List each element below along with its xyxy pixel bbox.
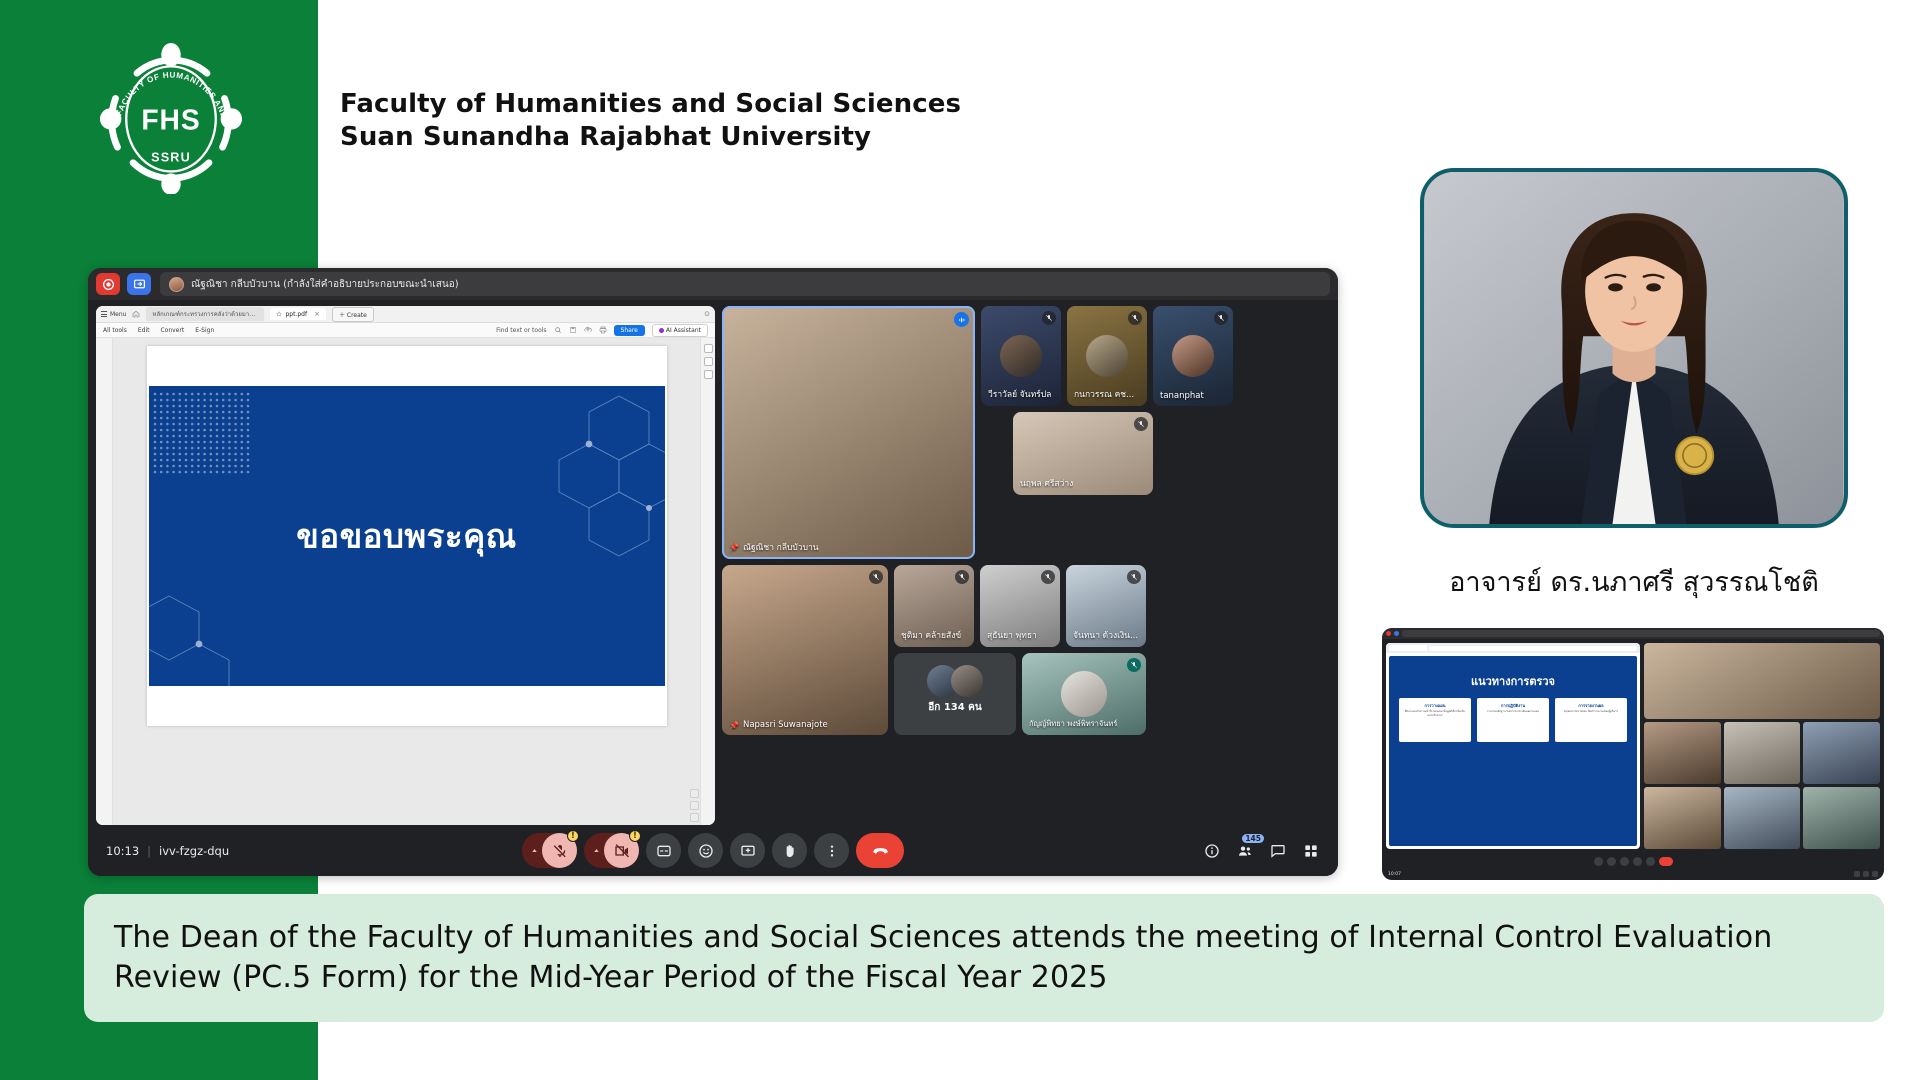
help-icon[interactable]: ⊙: [704, 310, 710, 318]
acrobat-zoom-rail[interactable]: [690, 789, 699, 822]
chevron-up-icon[interactable]: [526, 846, 542, 855]
secondary-tile: [1644, 722, 1721, 784]
secondary-slide-title: แนวทางการตรวจ: [1389, 672, 1637, 690]
people-button[interactable]: 145: [1234, 840, 1256, 862]
secondary-titlebar: [1382, 628, 1884, 639]
acrobat-right-rail[interactable]: [700, 338, 715, 825]
meet-control-bar: 10:13 | ivv-fzgz-dqu ! !: [88, 825, 1338, 876]
mic-icon: [1594, 857, 1603, 866]
slide-card: การวางแผน ศึกษาและทำความเข้าใจ ขอบเขต ข้…: [1399, 698, 1471, 742]
slide-heading: ขอขอบพระคุณ: [149, 510, 665, 563]
overflow-avatars: อีก 134 คน: [894, 653, 1016, 735]
poster-root: FACULTY OF HUMANITIES AND SOCIAL SCIENCE…: [0, 0, 1920, 1080]
close-icon[interactable]: ×: [314, 310, 320, 318]
presentation-slide: ขอขอบพระคุณ: [149, 386, 665, 686]
mic-off-icon: [1128, 311, 1142, 325]
secondary-tile: [1724, 787, 1801, 849]
dean-name-label: อาจารย์ ดร.นภาศรี สุวรรณโชติ: [1420, 560, 1848, 603]
secondary-tile: [1803, 787, 1880, 849]
meeting-time: 10:13: [106, 844, 139, 858]
participant-name: สุธันยา พุทธา: [987, 628, 1037, 642]
pin-icon: 📌: [729, 543, 739, 552]
fit-page-icon[interactable]: [690, 813, 699, 822]
slide-card-title: การปฏิบัติงาน: [1477, 702, 1549, 709]
fhs-logo: FACULTY OF HUMANITIES AND SOCIAL SCIENCE…: [98, 38, 244, 194]
search-icon[interactable]: [554, 326, 562, 334]
secondary-speaker-tile: [1644, 643, 1880, 719]
comment-icon[interactable]: [704, 344, 713, 353]
hamburger-icon: [101, 310, 107, 318]
acrobat-tab-active[interactable]: ppt.pdf ×: [270, 308, 325, 320]
overflow-count-label: อีก 134 คน: [928, 700, 981, 715]
mic-off-icon: [1214, 311, 1228, 325]
grid-row-1c: นฤพล ศรีสว่าง: [981, 412, 1265, 495]
secondary-tile: [1644, 787, 1721, 849]
grid-row-2c: อีก 134 คน กัญญ์พิทยา พงษ์พิทราจันทร์: [894, 653, 1146, 735]
secondary-slide-cards: การวางแผน ศึกษาและทำความเข้าใจ ขอบเขต ข้…: [1399, 698, 1627, 742]
participant-name: นฤพล ศรีสว่าง: [1020, 476, 1073, 490]
acrobat-menu-label: Menu: [110, 311, 126, 318]
present-icon[interactable]: [127, 273, 151, 295]
mic-off-icon: [955, 570, 969, 584]
record-icon: [1386, 631, 1391, 636]
reactions-button[interactable]: [688, 833, 723, 868]
dean-portrait: [1420, 168, 1848, 528]
participant-name: กัญญ์พิทยา พงษ์พิทราจันทร์: [1029, 718, 1117, 730]
end-call-icon: [1659, 857, 1673, 866]
highlight-icon[interactable]: [704, 357, 713, 366]
secondary-slide: แนวทางการตรวจ การวางแผน ศึกษาและทำความเข…: [1389, 656, 1637, 846]
present-icon: [1394, 631, 1399, 636]
grid-row-1: 📌ณัฐณิชา กลีบบัวบาน วีราวัลย์ จันทร์ปลา: [722, 306, 1330, 559]
secondary-tile: [1803, 722, 1880, 784]
chat-icon: [1872, 871, 1878, 877]
mic-off-icon: [1134, 417, 1148, 431]
acrobat-share-button[interactable]: Share: [614, 325, 645, 336]
acrobat-page-area: ขอขอบพระคุณ: [113, 338, 700, 825]
slide-card-title: การรายงานผล: [1555, 702, 1627, 709]
ai-sparkle-icon: [659, 328, 664, 333]
slide-card-title: การวางแผน: [1399, 702, 1471, 709]
camera-toggle-button[interactable]: !: [604, 833, 639, 868]
participant-tile[interactable]: วีราวัลย์ จันทร์ปลา: [981, 306, 1061, 406]
end-call-button[interactable]: [856, 833, 904, 868]
pdf-page: ขอขอบพระคุณ: [147, 346, 667, 726]
secondary-body: แนวทางการตรวจ การวางแผน ศึกษาและทำความเข…: [1382, 639, 1884, 853]
spacer-tile: [1159, 412, 1265, 495]
meet-control-buttons: ! !: [522, 833, 904, 868]
acrobat-ai-assistant-button[interactable]: AI Assistant: [652, 324, 708, 337]
meeting-info-button[interactable]: [1201, 840, 1223, 862]
save-icon[interactable]: [569, 326, 577, 334]
mic-off-icon: [869, 570, 883, 584]
secondary-grid: [1644, 722, 1880, 849]
participant-tile[interactable]: นฤพล ศรีสว่าง: [1013, 412, 1153, 495]
header-title-line1: Faculty of Humanities and Social Science…: [340, 88, 961, 121]
zoom-in-icon[interactable]: [690, 789, 699, 798]
avatar: [169, 277, 184, 292]
grid-row-1b: วีราวัลย์ จันทร์ปลา กนกวรรณ คช... tananp: [981, 306, 1265, 406]
participant-name: 📌ณัฐณิชา กลีบบัวบาน: [729, 540, 819, 554]
shared-screen-pane: Menu หลักเกณฑ์กระทรวงการคลังว่าด้วยมาตร.…: [96, 306, 715, 825]
grid-row-2b: ชุติมา คล้ายสังข์ สุธันยา พุทธา จันทนา ด…: [894, 565, 1146, 647]
acrobat-convert[interactable]: Convert: [160, 327, 184, 334]
chevron-up-icon[interactable]: [588, 846, 604, 855]
acrobat-tabbar: Menu หลักเกณฑ์กระทรวงการคลังว่าด้วยมาตร.…: [96, 306, 715, 323]
present-icon: [1646, 857, 1655, 866]
people-count-badge: 145: [1242, 834, 1264, 843]
secondary-time: 10:07: [1388, 872, 1401, 877]
secondary-meeting-screenshot: แนวทางการตรวจ การวางแผน ศึกษาและทำความเข…: [1382, 628, 1884, 880]
participant-tile[interactable]: 📌ณัฐณิชา กลีบบัวบาน: [722, 306, 975, 559]
camera-warning-badge: !: [629, 830, 641, 842]
google-meet-window: ณัฐณิชา กลีบบัวบาน (กำลังใส่คำอธิบายประก…: [88, 268, 1338, 876]
slide-card: การปฏิบัติงาน รวบรวมหลักฐาน วิเคราะห์ ปร…: [1477, 698, 1549, 742]
header-title-line2: Suan Sunandha Rajabhat University: [340, 121, 961, 154]
people-icon: [1863, 871, 1869, 877]
acrobat-menu-button[interactable]: Menu: [101, 310, 126, 318]
secondary-right-icons: [1854, 871, 1878, 877]
secondary-control-bar: 10:07: [1382, 853, 1884, 869]
acrobat-create-button[interactable]: ＋ Create: [332, 307, 374, 322]
participant-tile[interactable]: สุธันยา พุทธา: [980, 565, 1060, 647]
participant-name: tananphat: [1160, 391, 1204, 401]
participants-grid: 📌ณัฐณิชา กลีบบัวบาน วีราวัลย์ จันทร์ปลา: [722, 306, 1330, 876]
participant-tile[interactable]: tananphat: [1153, 306, 1233, 406]
participant-tile[interactable]: 📌Napasri Suwanajote: [722, 565, 888, 735]
print-icon[interactable]: [599, 326, 607, 334]
acrobat-find-label[interactable]: Find text or tools: [496, 327, 546, 334]
participant-name: ชุติมา คล้ายสังข์: [901, 628, 961, 642]
star-icon: [276, 311, 282, 317]
meet-body: Menu หลักเกณฑ์กระทรวงการคลังว่าด้วยมาตร.…: [88, 300, 1338, 876]
reactions-icon: [1633, 857, 1642, 866]
captions-button[interactable]: [646, 833, 681, 868]
browser-tab: [1389, 645, 1427, 651]
acrobat-edit[interactable]: Edit: [138, 327, 150, 334]
participant-tile[interactable]: ชุติมา คล้ายสังข์: [894, 565, 974, 647]
slide-card-body: ศึกษาและทำความเข้าใจ ขอบเขต ข้อมูลที่เกี…: [1402, 710, 1468, 718]
overflow-participants-tile[interactable]: อีก 134 คน: [894, 653, 1016, 735]
meeting-code: ivv-fzgz-dqu: [159, 844, 229, 858]
caption-text: The Dean of the Faculty of Humanities an…: [114, 918, 1854, 997]
acrobat-tab-document[interactable]: หลักเกณฑ์กระทรวงการคลังว่าด้วยมาตร...: [146, 307, 264, 321]
participant-tile[interactable]: กนกวรรณ คช...: [1067, 306, 1147, 406]
mic-off-icon: [1041, 570, 1055, 584]
acrobat-canvas: ขอขอบพระคุณ: [96, 338, 715, 825]
meet-status-left: 10:13 | ivv-fzgz-dqu: [106, 844, 229, 858]
more-options-button[interactable]: [814, 833, 849, 868]
svg-text:FHS: FHS: [141, 104, 200, 136]
mic-toggle-button[interactable]: !: [542, 833, 577, 868]
present-screen-button[interactable]: [730, 833, 765, 868]
pages-icon[interactable]: [704, 370, 713, 379]
mic-control-group[interactable]: !: [522, 833, 577, 868]
participant-name: จันทนา ด้วงเงิน...: [1073, 628, 1137, 642]
participant-tile[interactable]: กัญญ์พิทยา พงษ์พิทราจันทร์: [1022, 653, 1146, 735]
secondary-shared-screen: แนวทางการตรวจ การวางแผน ศึกษาและทำความเข…: [1386, 643, 1640, 849]
camera-icon: [1607, 857, 1616, 866]
info-icon: [1854, 871, 1860, 877]
secondary-browser-chrome: [1386, 643, 1640, 653]
participant-tile[interactable]: จันทนา ด้วงเงิน...: [1066, 565, 1146, 647]
acrobat-tab-active-label: ppt.pdf: [285, 311, 307, 318]
zoom-out-icon[interactable]: [690, 801, 699, 810]
mic-off-icon: [1127, 570, 1141, 584]
acrobat-all-tools[interactable]: All tools: [103, 327, 127, 334]
participant-name: 📌Napasri Suwanajote: [729, 720, 828, 730]
grid-row-2: 📌Napasri Suwanajote ชุติมา คล้ายสังข์ สุ…: [722, 565, 1330, 735]
chat-button[interactable]: [1267, 840, 1289, 862]
participant-name: วีราวัลย์ จันทร์ปลา: [988, 387, 1052, 401]
acrobat-toolbar: All tools Edit Convert E-Sign Find text …: [96, 323, 715, 338]
acrobat-left-rail[interactable]: [96, 338, 113, 825]
caption-banner: The Dean of the Faculty of Humanities an…: [84, 894, 1884, 1022]
camera-control-group[interactable]: !: [584, 833, 639, 868]
captions-icon: [1620, 857, 1629, 866]
mic-off-icon: [1127, 658, 1141, 672]
activities-button[interactable]: [1300, 840, 1322, 862]
meet-titlebar: ณัฐณิชา กลีบบัวบาน (กำลังใส่คำอธิบายประก…: [88, 268, 1338, 300]
raise-hand-button[interactable]: [772, 833, 807, 868]
record-icon[interactable]: [96, 273, 120, 295]
home-icon[interactable]: [132, 310, 140, 318]
slide-card-body: สรุปผลการตรวจสอบ จัดทำรายงานเสนอผู้บริหา…: [1558, 710, 1624, 714]
upload-icon[interactable]: [584, 326, 592, 334]
participant-name: กนกวรรณ คช...: [1074, 387, 1134, 401]
svg-text:SSRU: SSRU: [151, 151, 191, 165]
acrobat-toolbar-right: Find text or tools Share AI Assistant: [496, 324, 708, 337]
meet-right-buttons: 145: [1201, 840, 1322, 862]
header-title: Faculty of Humanities and Social Science…: [340, 88, 961, 155]
presenter-status-pill: ณัฐณิชา กลีบบัวบาน (กำลังใส่คำอธิบายประก…: [160, 272, 1330, 296]
divider: |: [147, 844, 151, 858]
secondary-tile: [1724, 722, 1801, 784]
mic-warning-badge: !: [567, 830, 579, 842]
presenter-name: ณัฐณิชา กลีบบัวบาน (กำลังใส่คำอธิบายประก…: [191, 277, 459, 292]
active-speaker-icon: [954, 312, 969, 327]
secondary-participants: [1644, 643, 1880, 849]
mic-off-icon: [1042, 311, 1056, 325]
slide-card: การรายงานผล สรุปผลการตรวจสอบ จัดทำรายงาน…: [1555, 698, 1627, 742]
slide-card-body: รวบรวมหลักฐาน วิเคราะห์ ประเมินผลตามแผน: [1480, 710, 1546, 714]
pin-icon: 📌: [729, 721, 739, 730]
secondary-title-pill: [1402, 630, 1880, 637]
acrobat-esign[interactable]: E-Sign: [195, 327, 214, 334]
address-bar: [1429, 646, 1637, 651]
